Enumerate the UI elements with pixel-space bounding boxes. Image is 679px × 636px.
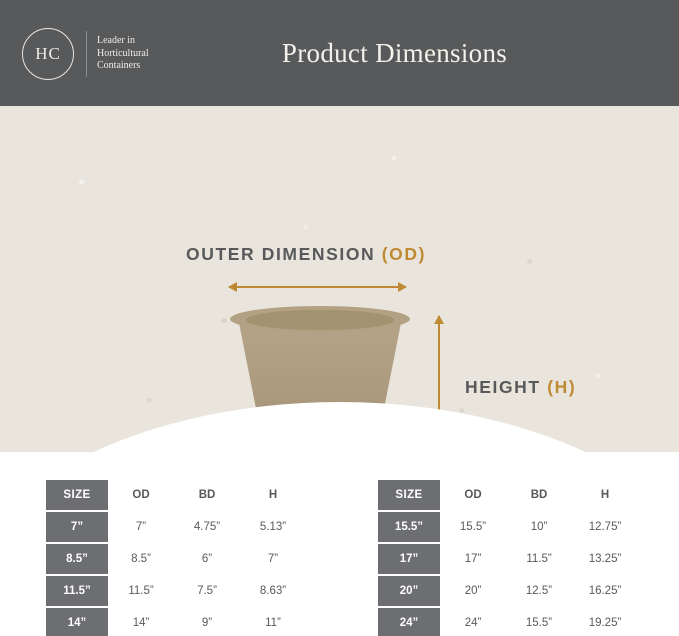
h-label-text: HEIGHT xyxy=(465,377,547,397)
od-label-text: OUTER DIMENSION xyxy=(186,244,382,264)
table-row: 14” 14” 9” 11” xyxy=(46,607,306,636)
cell-size: 7” xyxy=(46,511,108,543)
dimension-tables: SIZE OD BD H 7” 7” 4.75” 5.13” 8.5” 8.5”… xyxy=(0,452,679,636)
cell-size: 20” xyxy=(378,575,440,607)
outer-dimension-arrow-icon xyxy=(229,286,406,288)
table-left-head: SIZE OD BD H xyxy=(46,480,306,511)
cell-bd: 10” xyxy=(506,511,572,543)
od-label-abbr: (OD) xyxy=(382,244,426,264)
cell-size: 14” xyxy=(46,607,108,636)
col-header-h: H xyxy=(240,480,306,511)
table-right-body: 15.5” 15.5” 10” 12.75” 17” 17” 11.5” 13.… xyxy=(378,511,638,636)
cell-od: 8.5” xyxy=(108,543,174,575)
page-title: Product Dimensions xyxy=(0,0,679,106)
cell-od: 20” xyxy=(440,575,506,607)
cell-od: 24” xyxy=(440,607,506,636)
page-header: HC Leader in Horticultural Containers Pr… xyxy=(0,0,679,106)
cell-bd: 11.5” xyxy=(506,543,572,575)
table-row: 15.5” 15.5” 10” 12.75” xyxy=(378,511,638,543)
height-label: HEIGHT (H) xyxy=(465,377,576,398)
col-header-bd: BD xyxy=(174,480,240,511)
col-header-h: H xyxy=(572,480,638,511)
cell-h: 11” xyxy=(240,607,306,636)
cell-h: 8.63” xyxy=(240,575,306,607)
cell-size: 11.5” xyxy=(46,575,108,607)
table-row: 24” 24” 15.5” 19.25” xyxy=(378,607,638,636)
table-right-head: SIZE OD BD H xyxy=(378,480,638,511)
table-row: 11.5” 11.5” 7.5” 8.63” xyxy=(46,575,306,607)
table-row: 20” 20” 12.5” 16.25” xyxy=(378,575,638,607)
cell-h: 16.25” xyxy=(572,575,638,607)
cell-h: 19.25” xyxy=(572,607,638,636)
cell-bd: 6” xyxy=(174,543,240,575)
cell-bd: 7.5” xyxy=(174,575,240,607)
cell-size: 8.5” xyxy=(46,543,108,575)
table-row: 7” 7” 4.75” 5.13” xyxy=(46,511,306,543)
cell-od: 14” xyxy=(108,607,174,636)
table-left-body: 7” 7” 4.75” 5.13” 8.5” 8.5” 6” 7” 11.5” … xyxy=(46,511,306,636)
col-header-od: OD xyxy=(108,480,174,511)
pot-opening xyxy=(246,310,394,330)
cell-h: 13.25” xyxy=(572,543,638,575)
product-dimensions-page: HC Leader in Horticultural Containers Pr… xyxy=(0,0,679,636)
cell-size: 17” xyxy=(378,543,440,575)
outer-dimension-label: OUTER DIMENSION (OD) xyxy=(186,244,426,265)
col-header-size: SIZE xyxy=(46,480,108,511)
dimension-table-left: SIZE OD BD H 7” 7” 4.75” 5.13” 8.5” 8.5”… xyxy=(46,480,306,636)
h-label-abbr: (H) xyxy=(547,377,576,397)
cell-h: 5.13” xyxy=(240,511,306,543)
cell-bd: 15.5” xyxy=(506,607,572,636)
table-row: SIZE OD BD H xyxy=(46,480,306,511)
cell-h: 7” xyxy=(240,543,306,575)
cell-od: 17” xyxy=(440,543,506,575)
cell-od: 11.5” xyxy=(108,575,174,607)
cell-bd: 9” xyxy=(174,607,240,636)
cell-size: 24” xyxy=(378,607,440,636)
cell-od: 7” xyxy=(108,511,174,543)
table-row: 17” 17” 11.5” 13.25” xyxy=(378,543,638,575)
cell-h: 12.75” xyxy=(572,511,638,543)
cell-bd: 12.5” xyxy=(506,575,572,607)
table-row: 8.5” 8.5” 6” 7” xyxy=(46,543,306,575)
dimension-table-right: SIZE OD BD H 15.5” 15.5” 10” 12.75” 17” … xyxy=(378,480,638,636)
cell-od: 15.5” xyxy=(440,511,506,543)
cell-bd: 4.75” xyxy=(174,511,240,543)
col-header-bd: BD xyxy=(506,480,572,511)
dimension-diagram: OUTER DIMENSION (OD) BASE DIMENSION (BD)… xyxy=(0,106,679,452)
col-header-size: SIZE xyxy=(378,480,440,511)
table-row: SIZE OD BD H xyxy=(378,480,638,511)
col-header-od: OD xyxy=(440,480,506,511)
cell-size: 15.5” xyxy=(378,511,440,543)
